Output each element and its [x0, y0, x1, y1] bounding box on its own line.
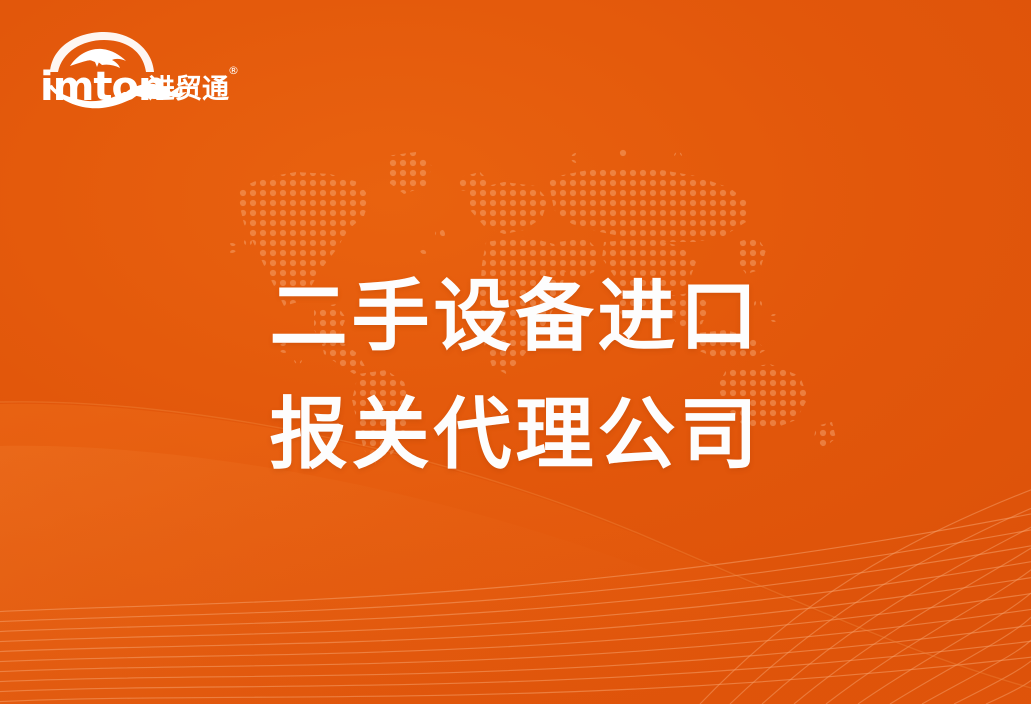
headline: 二手设备进口 报关代理公司 — [0, 258, 1031, 494]
svg-text:imton: imton — [40, 64, 165, 110]
promo-banner: imton 进贸通 ® 二手设备进口 报关代理公司 — [0, 0, 1031, 704]
headline-line-2: 报关代理公司 — [0, 376, 1031, 494]
imton-logo[interactable]: imton 进贸通 ® — [40, 28, 240, 110]
logo-chinese-name: 进贸通 — [148, 74, 229, 105]
logo-wordmark: imton — [40, 64, 165, 110]
svg-text:®: ® — [228, 64, 239, 77]
headline-line-1: 二手设备进口 — [0, 258, 1031, 376]
registered-trademark-icon: ® — [228, 64, 239, 77]
svg-text:进贸通: 进贸通 — [148, 74, 229, 105]
